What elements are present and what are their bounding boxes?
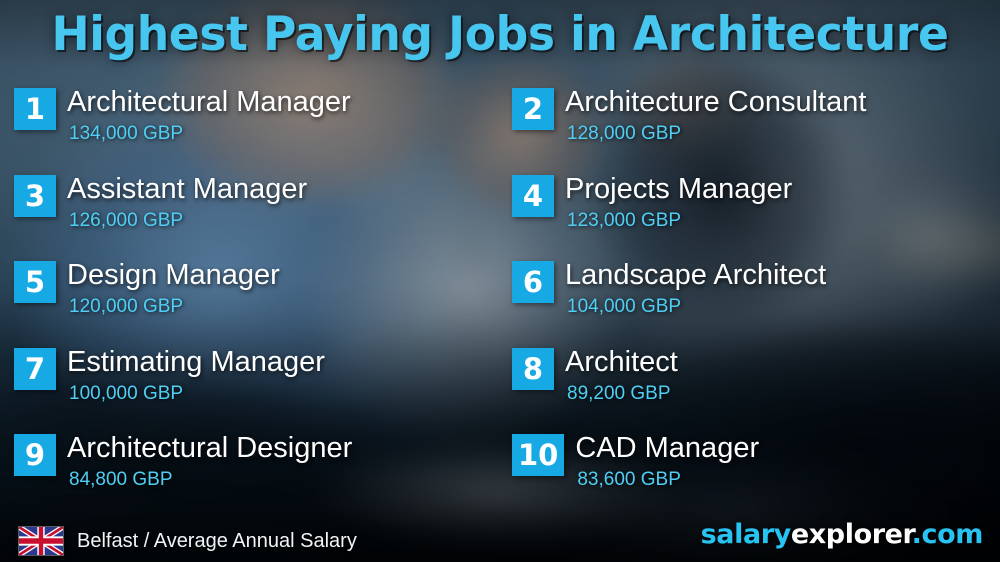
brand-part-tld: .com — [912, 519, 983, 550]
jobs-row: 9 Architectural Designer 84,800 GBP 10 C… — [0, 434, 1000, 521]
job-text-block: Landscape Architect 104,000 GBP — [565, 256, 826, 319]
job-title: Architect — [565, 343, 678, 381]
job-text-block: Estimating Manager 100,000 GBP — [67, 343, 325, 406]
job-salary: 120,000 GBP — [69, 295, 280, 319]
rank-badge: 5 — [14, 261, 56, 303]
jobs-row: 7 Estimating Manager 100,000 GBP 8 Archi… — [0, 348, 1000, 435]
job-salary: 104,000 GBP — [567, 295, 826, 319]
job-entry-5[interactable]: 5 Design Manager 120,000 GBP — [14, 261, 280, 319]
job-title: Architectural Designer — [67, 429, 352, 467]
rank-badge: 1 — [14, 88, 56, 130]
uk-flag-icon — [18, 526, 64, 556]
job-salary: 100,000 GBP — [69, 382, 325, 406]
brand-part-salary: salary — [701, 519, 791, 550]
infographic-canvas: Highest Paying Jobs in Architecture 1 Ar… — [0, 0, 1000, 562]
jobs-row: 3 Assistant Manager 126,000 GBP 4 Projec… — [0, 175, 1000, 262]
footer-location: Belfast / Average Annual Salary — [18, 526, 357, 556]
job-text-block: Design Manager 120,000 GBP — [67, 256, 280, 319]
job-text-block: Projects Manager 123,000 GBP — [565, 170, 792, 233]
rank-badge: 9 — [14, 434, 56, 476]
job-title: Estimating Manager — [67, 343, 325, 381]
job-text-block: Assistant Manager 126,000 GBP — [67, 170, 307, 233]
rank-badge: 8 — [512, 348, 554, 390]
job-text-block: Architecture Consultant 128,000 GBP — [565, 83, 866, 146]
job-title: Architecture Consultant — [565, 83, 866, 121]
content-layer: Highest Paying Jobs in Architecture 1 Ar… — [0, 0, 1000, 562]
job-entry-1[interactable]: 1 Architectural Manager 134,000 GBP — [14, 88, 351, 146]
jobs-row: 1 Architectural Manager 134,000 GBP 2 Ar… — [0, 88, 1000, 175]
job-salary: 83,600 GBP — [577, 468, 759, 492]
job-salary: 89,200 GBP — [567, 382, 678, 406]
job-salary: 123,000 GBP — [567, 209, 792, 233]
job-entry-6[interactable]: 6 Landscape Architect 104,000 GBP — [512, 261, 826, 319]
site-branding[interactable]: salaryexplorer.com — [701, 519, 983, 551]
job-text-block: Architectural Designer 84,800 GBP — [67, 429, 352, 492]
page-title: Highest Paying Jobs in Architecture — [15, 6, 985, 64]
footer-caption: Belfast / Average Annual Salary — [77, 528, 357, 554]
job-salary: 134,000 GBP — [69, 122, 351, 146]
job-entry-8[interactable]: 8 Architect 89,200 GBP — [512, 348, 678, 406]
job-title: Design Manager — [67, 256, 280, 294]
job-salary: 126,000 GBP — [69, 209, 307, 233]
job-entry-10[interactable]: 10 CAD Manager 83,600 GBP — [512, 434, 759, 492]
job-text-block: Architectural Manager 134,000 GBP — [67, 83, 351, 146]
job-title: Assistant Manager — [67, 170, 307, 208]
rank-badge: 3 — [14, 175, 56, 217]
job-salary: 84,800 GBP — [69, 468, 352, 492]
jobs-list: 1 Architectural Manager 134,000 GBP 2 Ar… — [0, 88, 1000, 521]
rank-badge: 4 — [512, 175, 554, 217]
brand-part-explorer: explorer — [791, 519, 912, 550]
job-salary: 128,000 GBP — [567, 122, 866, 146]
job-entry-3[interactable]: 3 Assistant Manager 126,000 GBP — [14, 175, 307, 233]
job-entry-9[interactable]: 9 Architectural Designer 84,800 GBP — [14, 434, 352, 492]
job-title: Architectural Manager — [67, 83, 351, 121]
job-text-block: Architect 89,200 GBP — [565, 343, 678, 406]
job-entry-2[interactable]: 2 Architecture Consultant 128,000 GBP — [512, 88, 866, 146]
jobs-row: 5 Design Manager 120,000 GBP 6 Landscape… — [0, 261, 1000, 348]
job-text-block: CAD Manager 83,600 GBP — [575, 429, 759, 492]
rank-badge: 6 — [512, 261, 554, 303]
rank-badge: 7 — [14, 348, 56, 390]
job-title: Projects Manager — [565, 170, 792, 208]
job-entry-7[interactable]: 7 Estimating Manager 100,000 GBP — [14, 348, 325, 406]
rank-badge: 10 — [512, 434, 564, 476]
job-title: CAD Manager — [575, 429, 759, 467]
job-entry-4[interactable]: 4 Projects Manager 123,000 GBP — [512, 175, 792, 233]
job-title: Landscape Architect — [565, 256, 826, 294]
rank-badge: 2 — [512, 88, 554, 130]
